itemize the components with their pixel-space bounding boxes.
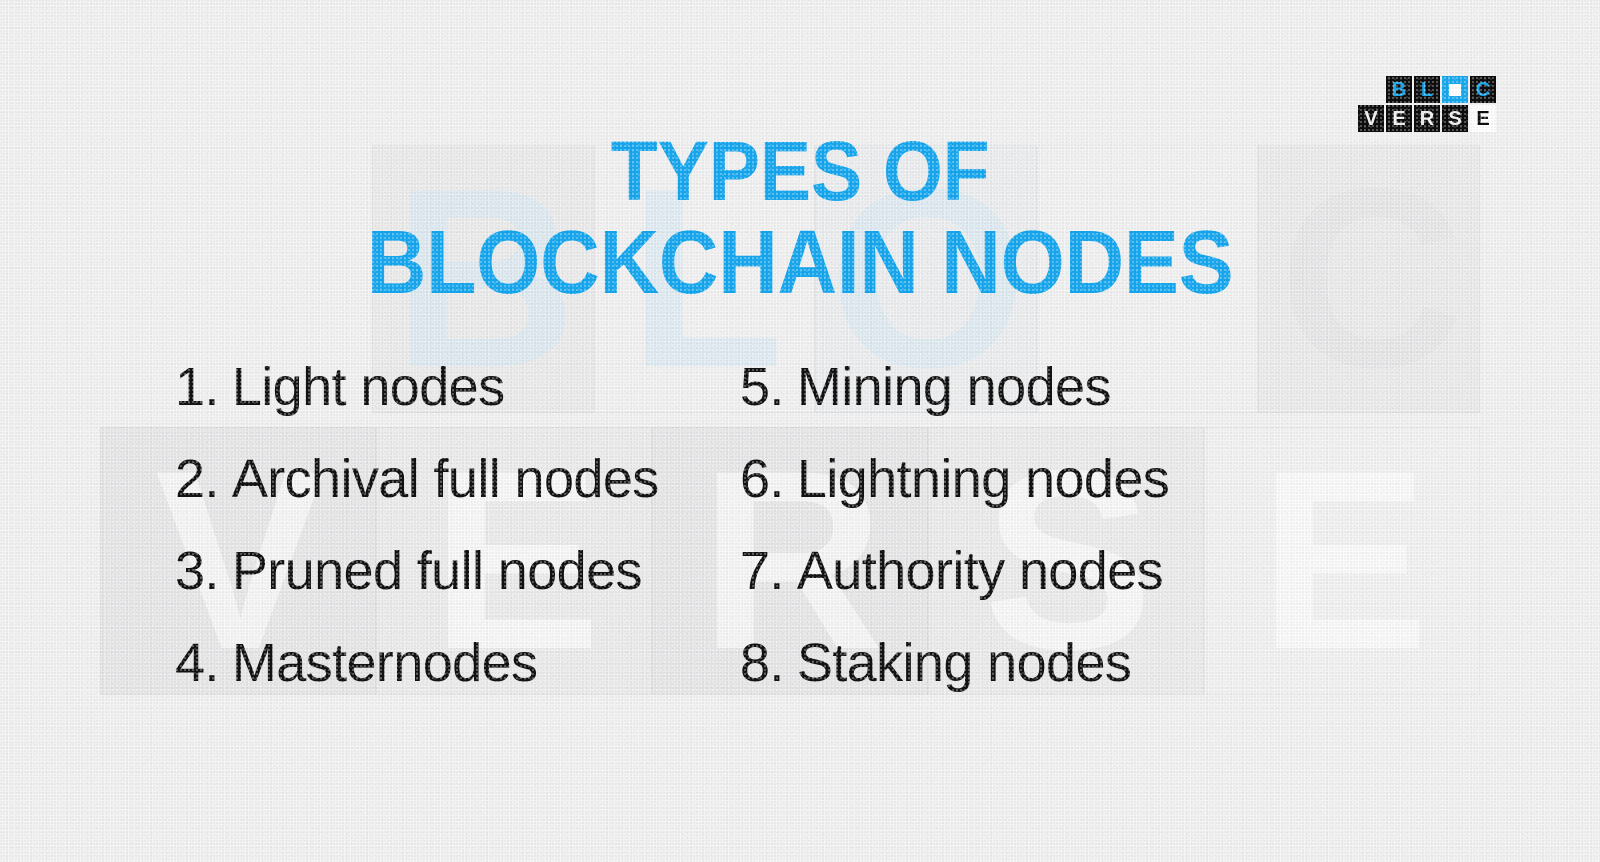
list-item: 6. Lightning nodes bbox=[740, 452, 1460, 544]
list-item: 3. Pruned full nodes bbox=[175, 544, 700, 636]
logo-tile-o bbox=[1442, 76, 1468, 103]
logo-tile-c: C bbox=[1470, 76, 1496, 103]
logo-square-glyph bbox=[1449, 84, 1461, 96]
list-item-number: 8. bbox=[740, 636, 784, 690]
list-column-left: 1. Light nodes 2. Archival full nodes 3.… bbox=[0, 360, 700, 728]
list-column-right: 5. Mining nodes 6. Lightning nodes 7. Au… bbox=[700, 360, 1460, 728]
list-item-label: Lightning nodes bbox=[797, 452, 1169, 506]
title-line-1: TYPES OF bbox=[64, 128, 1536, 215]
list-item-number: 6. bbox=[740, 452, 784, 506]
list-item-number: 3. bbox=[175, 544, 219, 598]
logo-tile-r: R bbox=[1414, 105, 1440, 132]
list-item-number: 1. bbox=[175, 360, 219, 414]
list-item-label: Masternodes bbox=[232, 636, 538, 690]
list-item: 7. Authority nodes bbox=[740, 544, 1460, 636]
logo-tile-s: S bbox=[1442, 105, 1468, 132]
list-item: 4. Masternodes bbox=[175, 636, 700, 728]
list-item-label: Authority nodes bbox=[797, 544, 1163, 598]
logo-row-bloc: B L C bbox=[1386, 76, 1496, 103]
list-item-label: Pruned full nodes bbox=[232, 544, 642, 598]
list-item: 1. Light nodes bbox=[175, 360, 700, 452]
list-item: 2. Archival full nodes bbox=[175, 452, 700, 544]
list-item-number: 7. bbox=[740, 544, 784, 598]
list-item-label: Staking nodes bbox=[797, 636, 1131, 690]
list-item: 5. Mining nodes bbox=[740, 360, 1460, 452]
logo-tile-v: V bbox=[1358, 105, 1384, 132]
logo-tile-b: B bbox=[1386, 76, 1412, 103]
list-item: 8. Staking nodes bbox=[740, 636, 1460, 728]
logo-tile-e2: E bbox=[1470, 105, 1496, 132]
logo-tile-l: L bbox=[1414, 76, 1440, 103]
node-types-list: 1. Light nodes 2. Archival full nodes 3.… bbox=[0, 360, 1600, 728]
list-item-label: Mining nodes bbox=[797, 360, 1111, 414]
list-item-number: 4. bbox=[175, 636, 219, 690]
list-item-number: 2. bbox=[175, 452, 219, 506]
page-title: TYPES OF BLOCKCHAIN NODES bbox=[0, 128, 1600, 311]
logo-row-verse: V E R S E bbox=[1358, 105, 1496, 132]
blocverse-logo[interactable]: B L C V E R S E bbox=[1358, 76, 1496, 132]
list-item-label: Light nodes bbox=[232, 360, 505, 414]
title-line-2: BLOCKCHAIN NODES bbox=[64, 217, 1536, 311]
logo-tile-e1: E bbox=[1386, 105, 1412, 132]
list-item-number: 5. bbox=[740, 360, 784, 414]
infographic-canvas: B L O C V E R S bbox=[0, 0, 1600, 862]
list-item-label: Archival full nodes bbox=[232, 452, 659, 506]
